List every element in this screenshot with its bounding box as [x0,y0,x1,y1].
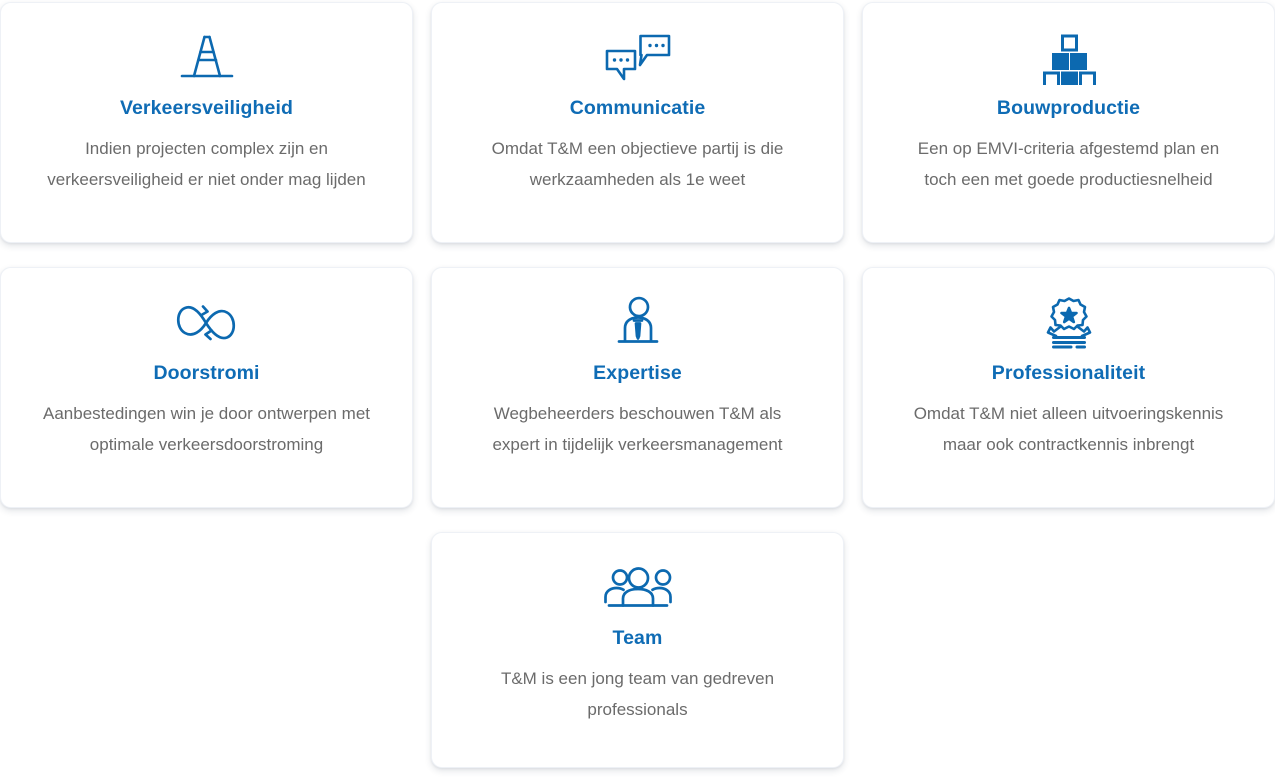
usp-card-title: Bouwproductie [997,97,1140,120]
usp-card-title: Expertise [593,362,682,385]
infinity-arrows-icon [172,294,242,352]
traffic-cone-icon [176,29,238,87]
usp-card-team[interactable]: Team T&M is een jong team van gedreven p… [431,532,844,768]
usp-card-grid: Verkeersveiligheid Indien projecten comp… [0,0,1275,768]
usp-card-text: Wegbeheerders beschouwen T&M als expert … [473,399,803,460]
usp-card-title: Team [613,627,663,650]
speech-bubbles-icon [603,29,673,87]
usp-card-title: Professionaliteit [992,362,1145,385]
usp-card-title: Doorstromi [153,362,259,385]
usp-card-doorstromi[interactable]: Doorstromi Aanbestedingen win je door on… [0,267,413,508]
usp-card-text: Een op EMVI-criteria afgestemd plan en t… [904,134,1234,195]
block-pyramid-icon [1040,29,1098,87]
usp-card-title: Verkeersveiligheid [120,97,293,120]
usp-card-verkeersveiligheid[interactable]: Verkeersveiligheid Indien projecten comp… [0,2,413,243]
usp-card-text: T&M is een jong team van gedreven profes… [473,664,803,725]
people-group-icon [602,559,674,617]
usp-card-title: Communicatie [570,97,706,120]
usp-card-professionaliteit[interactable]: Professionaliteit Omdat T&M niet alleen … [862,267,1275,508]
usp-card-communicatie[interactable]: Communicatie Omdat T&M een objectieve pa… [431,2,844,243]
award-rosette-icon [1040,294,1098,352]
person-podium-icon [613,294,663,352]
usp-card-text: Omdat T&M niet alleen uitvoeringskennis … [904,399,1234,460]
usp-card-text: Indien projecten complex zijn en verkeer… [42,134,372,195]
usp-card-text: Omdat T&M een objectieve partij is die w… [473,134,803,195]
usp-card-text: Aanbestedingen win je door ontwerpen met… [42,399,372,460]
usp-card-bouwproductie[interactable]: Bouwproductie Een op EMVI-criteria afges… [862,2,1275,243]
usp-card-expertise[interactable]: Expertise Wegbeheerders beschouwen T&M a… [431,267,844,508]
